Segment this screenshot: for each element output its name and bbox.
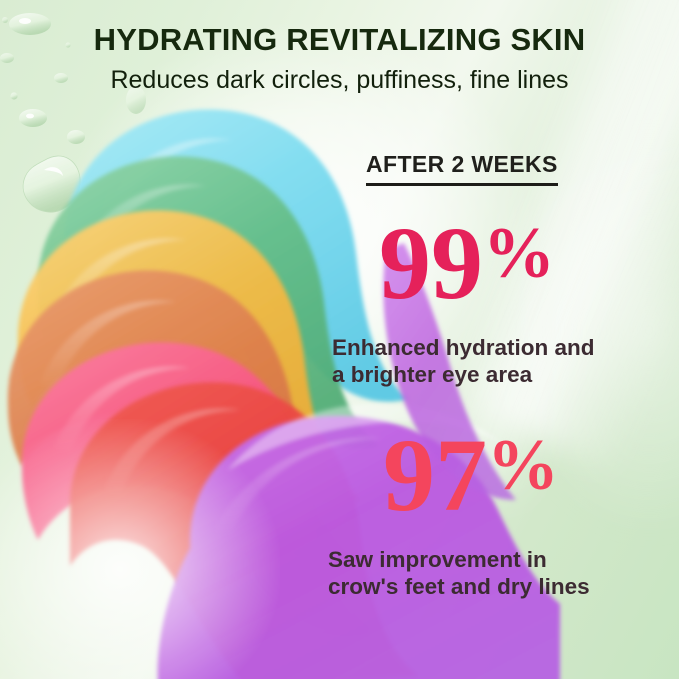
- stat-percentage-97: 97%: [383, 424, 559, 528]
- stat-description-99-line1: Enhanced hydration and: [332, 334, 595, 361]
- after-duration-label: AFTER 2 WEEKS: [366, 151, 558, 186]
- percent-sign-97: %: [487, 424, 559, 504]
- stat-value-97: 97: [383, 418, 487, 533]
- stat-percentage-99: 99%: [379, 212, 555, 316]
- stat-description-97-line2: crow's feet and dry lines: [328, 573, 590, 600]
- stat-description-97: Saw improvement in crow's feet and dry l…: [328, 546, 590, 601]
- stat-description-99: Enhanced hydration and a brighter eye ar…: [332, 334, 595, 389]
- page-title: HYDRATING REVITALIZING SKIN: [0, 22, 679, 58]
- stat-value-99: 99: [379, 206, 483, 321]
- percent-sign-99: %: [483, 212, 555, 292]
- product-infographic-poster: HYDRATING REVITALIZING SKIN Reduces dark…: [0, 0, 679, 679]
- stat-description-99-line2: a brighter eye area: [332, 361, 595, 388]
- page-subtitle: Reduces dark circles, puffiness, fine li…: [0, 66, 679, 95]
- stat-description-97-line1: Saw improvement in: [328, 546, 590, 573]
